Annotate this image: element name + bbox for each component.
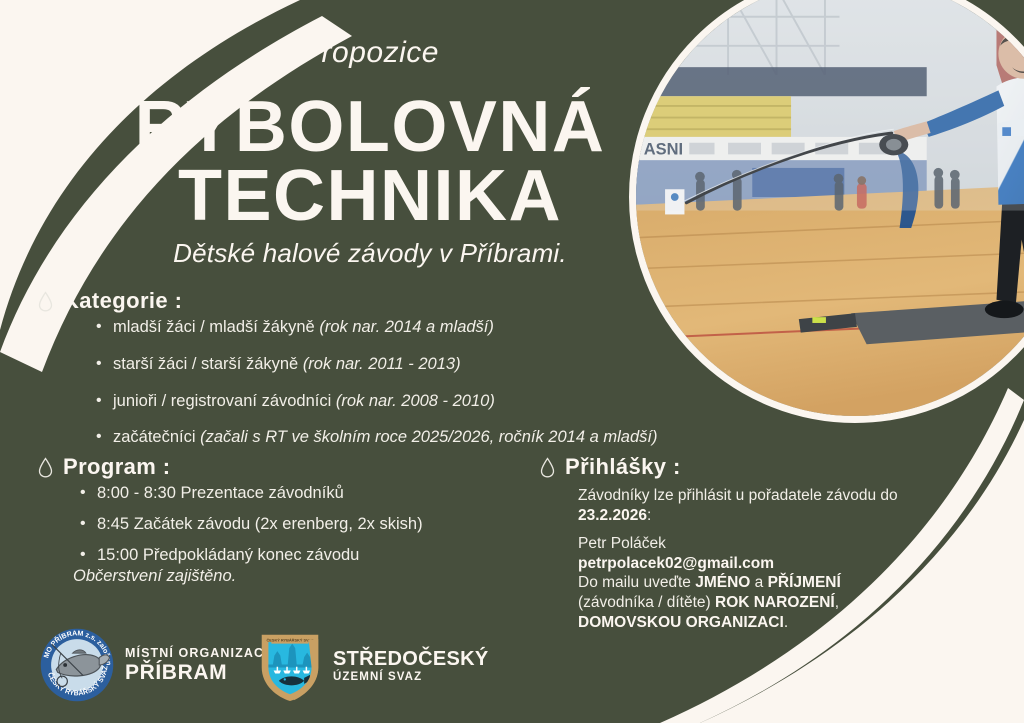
deadline-date: 23.2.2026 <box>578 507 647 524</box>
water-drop-icon <box>38 291 53 312</box>
kicker-propozice: Propozice <box>0 36 740 70</box>
footer-logo-sus-text: STŘEDOČESKÝ ÚZEMNÍ SVAZ <box>333 648 489 685</box>
contact-email[interactable]: petrpolacek02@gmail.com <box>578 555 774 572</box>
section-heading-kategorie: Kategorie : <box>38 288 182 314</box>
mail-text-2: a <box>750 574 767 591</box>
list-item-note: (rok nar. 2008 - 2010) <box>336 392 495 410</box>
svg-text:ČESKÝ RYBÁŘSKÝ SVAZ: ČESKÝ RYBÁŘSKÝ SVAZ <box>267 637 315 642</box>
list-item-main: začátečníci <box>113 428 200 446</box>
list-item-note: (začali s RT ve školním roce 2025/2026, … <box>200 428 657 446</box>
page-title-line1: RYBOLOVNÁ <box>0 94 740 160</box>
footer-logo-sus-small: ÚZEMNÍ SVAZ <box>333 670 489 685</box>
prihlasky-contact: Petr Poláček petrpolacek02@gmail.com <box>578 534 948 574</box>
deadline-text-after: : <box>647 507 651 524</box>
mail-text-3: (závodníka / dítěte) <box>578 594 715 611</box>
program-footnote: Občerstvení zajištěno. <box>73 567 236 586</box>
list-item: začátečníci (začali s RT ve školním roce… <box>96 428 736 448</box>
program-list: 8:00 - 8:30 Prezentace závodníků 8:45 Za… <box>80 484 510 576</box>
mail-bold-prijmeni: PŘÍJMENÍ <box>768 574 841 591</box>
list-item: 8:00 - 8:30 Prezentace závodníků <box>80 484 510 504</box>
list-item-main: junioři / registrovaní závodníci <box>113 392 336 410</box>
section-heading-prihlasky-label: Přihlášky : <box>565 454 681 480</box>
section-heading-program: Program : <box>38 454 171 480</box>
deadline-text-before: Závodníky lze přihlásit u pořadatele záv… <box>578 487 898 504</box>
footer-logo-mo-text: MÍSTNÍ ORGANIZACE PŘÍBRAM <box>125 646 274 685</box>
list-item: mladší žáci / mladší žákyně (rok nar. 20… <box>96 318 736 338</box>
list-item-main: mladší žáci / mladší žákyně <box>113 318 319 336</box>
page-title-line2: TECHNIKA <box>0 163 740 229</box>
mail-bold-jmeno: JMÉNO <box>695 574 750 591</box>
mail-text-5: . <box>784 614 788 631</box>
section-heading-program-label: Program : <box>63 454 171 480</box>
footer-logo-mo-small: MÍSTNÍ ORGANIZACE <box>125 646 274 662</box>
footer-logo-mo-pribram: MO PŘÍBRAM z.s. založeno 1923 ČESKÝ RYBÁ… <box>40 628 274 702</box>
footer-logo-mo-big: PŘÍBRAM <box>125 661 274 684</box>
section-heading-kategorie-label: Kategorie : <box>63 288 182 314</box>
water-drop-icon <box>540 457 555 478</box>
poster-canvas: ASNI <box>0 0 1024 723</box>
mail-bold-rok-narozeni: ROK NAROZENÍ <box>715 594 835 611</box>
list-item-note: (rok nar. 2014 a mladší) <box>319 318 494 336</box>
list-item: junioři / registrovaní závodníci (rok na… <box>96 392 736 412</box>
list-item-main: 8:00 - 8:30 Prezentace závodníků <box>97 484 344 502</box>
mail-text-1: Do mailu uveďte <box>578 574 695 591</box>
kategorie-list: mladší žáci / mladší žákyně (rok nar. 20… <box>96 318 736 465</box>
stredocesky-uzemni-svaz-shield-icon: ČESKÝ RYBÁŘSKÝ SVAZ <box>258 628 322 704</box>
prihlasky-deadline: Závodníky lze přihlásit u pořadatele záv… <box>578 486 948 526</box>
mail-text-4: , <box>835 594 839 611</box>
section-heading-prihlasky: Přihlášky : <box>540 454 681 480</box>
list-item: 8:45 Začátek závodu (2x erenberg, 2x ski… <box>80 515 510 535</box>
footer-logo-stredocesky: ČESKÝ RYBÁŘSKÝ SVAZ STŘEDOČESKÝ ÚZEMNÍ S… <box>258 628 489 704</box>
list-item: starší žáci / starší žákyně (rok nar. 20… <box>96 355 736 375</box>
mo-pribram-fish-badge-icon: MO PŘÍBRAM z.s. založeno 1923 ČESKÝ RYBÁ… <box>40 628 114 702</box>
list-item-note: (rok nar. 2011 - 2013) <box>303 355 461 373</box>
water-drop-icon <box>38 457 53 478</box>
list-item: 15:00 Předpokládaný konec závodu <box>80 546 510 566</box>
prihlasky-mail-instructions: Do mailu uveďte JMÉNO a PŘÍJMENÍ (závodn… <box>578 573 948 633</box>
footer-logo-sus-big: STŘEDOČESKÝ <box>333 648 489 670</box>
contact-name: Petr Poláček <box>578 534 948 554</box>
mail-bold-domovskou-organizaci: DOMOVSKOU ORGANIZACI <box>578 614 784 631</box>
list-item-main: 15:00 Předpokládaný konec závodu <box>97 546 359 564</box>
page-subtitle: Dětské halové závody v Příbrami. <box>0 238 740 269</box>
list-item-main: starší žáci / starší žákyně <box>113 355 303 373</box>
list-item-main: 8:45 Začátek závodu (2x erenberg, 2x ski… <box>97 515 423 533</box>
